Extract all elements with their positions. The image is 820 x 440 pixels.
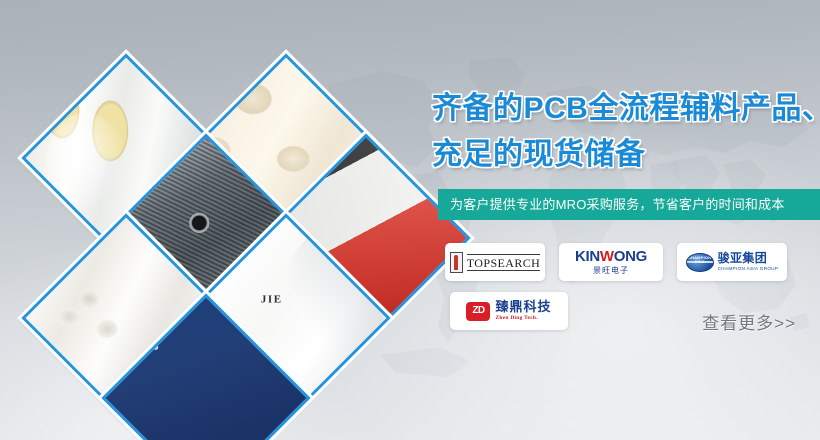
champion-asia-globe-text: CHAMPION ASIA <box>687 256 713 264</box>
kinwong-chinese-name: 景旺电子 <box>575 267 647 275</box>
partner-logo-topsearch[interactable]: TOPSEARCH <box>445 243 545 281</box>
subtitle-text: 为客户提供专业的MRO采购服务，节省客户的时间和成本 <box>438 198 785 211</box>
promo-banner: JIE 齐备的PCB全流程辅料产品、 充足的现货储备 为客户提供专业的MRO采购… <box>0 0 820 440</box>
champion-asia-chinese-name: 骏亚集团 <box>718 252 779 264</box>
collage-tile-film-label: JIE <box>261 294 283 306</box>
partner-logo-champion-asia[interactable]: CHAMPION ASIA 骏亚集团 CHAMPION ASIA GROUP <box>677 243 787 281</box>
globe-icon: CHAMPION ASIA <box>686 253 714 272</box>
headline-line-1: 齐备的PCB全流程辅料产品、 <box>432 94 820 124</box>
kinwong-word-part1: KIN <box>575 248 600 265</box>
partner-logo-row-1: TOPSEARCH KINWONG 景旺电子 CHAMPION ASIA 骏亚集… <box>445 243 787 281</box>
partner-logo-zhen-ding[interactable]: 臻鼎科技 Zhen Ding Tech. <box>450 292 568 330</box>
kinwong-wordmark: KINWONG <box>575 249 647 264</box>
view-more-link[interactable]: 查看更多>> <box>702 315 796 332</box>
zhen-ding-mark-icon <box>466 302 490 321</box>
kinwong-word-accent: W <box>600 248 614 265</box>
topsearch-mark-icon <box>450 252 463 273</box>
partner-logo-row-2: 臻鼎科技 Zhen Ding Tech. <box>450 292 568 330</box>
topsearch-wordmark: TOPSEARCH <box>467 254 540 271</box>
banner-content: 齐备的PCB全流程辅料产品、 充足的现货储备 为客户提供专业的MRO采购服务，节… <box>432 0 820 440</box>
partner-logo-kinwong[interactable]: KINWONG 景旺电子 <box>559 243 663 281</box>
headline-line-2: 充足的现货储备 <box>432 140 646 170</box>
champion-asia-english-name: CHAMPION ASIA GROUP <box>718 267 779 272</box>
kinwong-word-part3: ONG <box>614 248 647 265</box>
zhen-ding-chinese-name: 臻鼎科技 <box>495 300 551 313</box>
product-image-collage: JIE <box>0 0 420 440</box>
subtitle-bar: 为客户提供专业的MRO采购服务，节省客户的时间和成本 <box>438 189 820 220</box>
zhen-ding-english-name: Zhen Ding Tech. <box>495 316 551 321</box>
